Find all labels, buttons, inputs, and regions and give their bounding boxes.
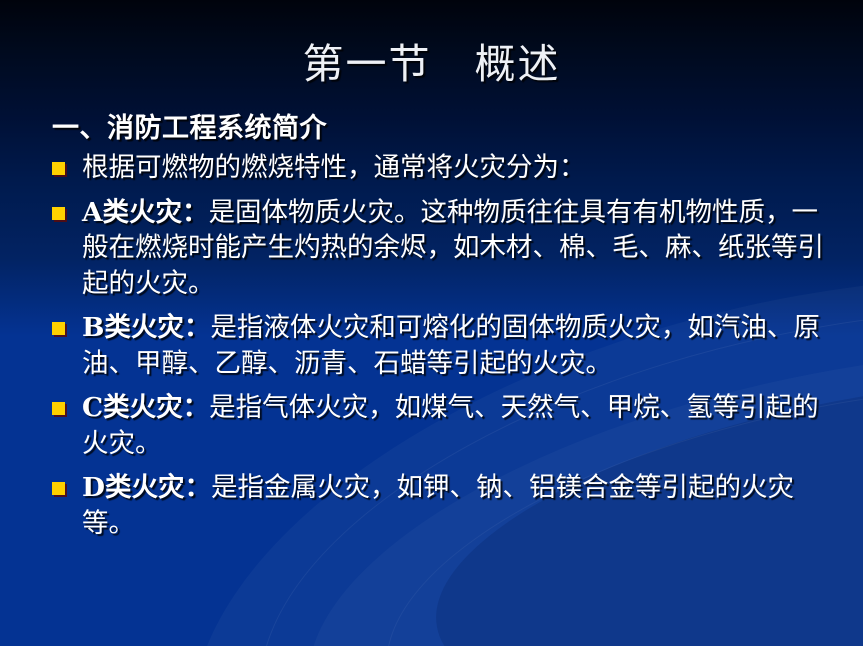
slide-body: 一、消防工程系统简介 根据可燃物的燃烧特性，通常将火灾分为： A类火灾：是固体物… [52, 112, 824, 550]
bullet-text: D类火灾：是指金属火灾，如钾、钠、铝镁合金等引起的火灾等。 [82, 470, 824, 541]
bullet-item-intro: 根据可燃物的燃烧特性，通常将火灾分为： [52, 150, 824, 186]
slide-title: 第一节 概述 [0, 30, 863, 90]
bullet-item-class-b: B类火灾：是指液体火灾和可熔化的固体物质火灾，如汽油、原油、甲醇、乙醇、沥青、石… [52, 310, 824, 381]
section-heading: 一、消防工程系统简介 [52, 112, 824, 146]
gold-square-bullet-icon [52, 322, 65, 335]
bullet-text: 根据可燃物的燃烧特性，通常将火灾分为： [82, 150, 824, 186]
gold-square-bullet-icon [52, 207, 65, 220]
bullet-item-class-a: A类火灾：是固体物质火灾。这种物质往往具有有机物性质，一般在燃烧时能产生灼热的余… [52, 195, 824, 302]
gold-square-bullet-icon [52, 402, 65, 415]
bullet-body: 根据可燃物的燃烧特性，通常将火灾分为： [82, 152, 586, 183]
bullet-item-class-d: D类火灾：是指金属火灾，如钾、钠、铝镁合金等引起的火灾等。 [52, 470, 824, 541]
slide-content: 第一节 概述 一、消防工程系统简介 根据可燃物的燃烧特性，通常将火灾分为： A类… [0, 0, 863, 646]
gold-square-bullet-icon [52, 482, 65, 495]
presentation-slide: 第一节 概述 一、消防工程系统简介 根据可燃物的燃烧特性，通常将火灾分为： A类… [0, 0, 863, 646]
gold-square-bullet-icon [52, 162, 65, 175]
bullet-lead: A类火灾： [82, 197, 209, 228]
bullet-text: C类火灾：是指气体火灾，如煤气、天然气、甲烷、氢等引起的火灾。 [82, 390, 824, 461]
bullet-lead: B类火灾： [82, 312, 210, 343]
fire-class-bullet-list: 根据可燃物的燃烧特性，通常将火灾分为： A类火灾：是固体物质火灾。这种物质往往具… [52, 150, 824, 541]
bullet-lead: D类火灾： [82, 472, 211, 503]
bullet-text: A类火灾：是固体物质火灾。这种物质往往具有有机物性质，一般在燃烧时能产生灼热的余… [82, 195, 824, 302]
bullet-item-class-c: C类火灾：是指气体火灾，如煤气、天然气、甲烷、氢等引起的火灾。 [52, 390, 824, 461]
bullet-lead: C类火灾： [82, 392, 209, 423]
bullet-text: B类火灾：是指液体火灾和可熔化的固体物质火灾，如汽油、原油、甲醇、乙醇、沥青、石… [82, 310, 824, 381]
